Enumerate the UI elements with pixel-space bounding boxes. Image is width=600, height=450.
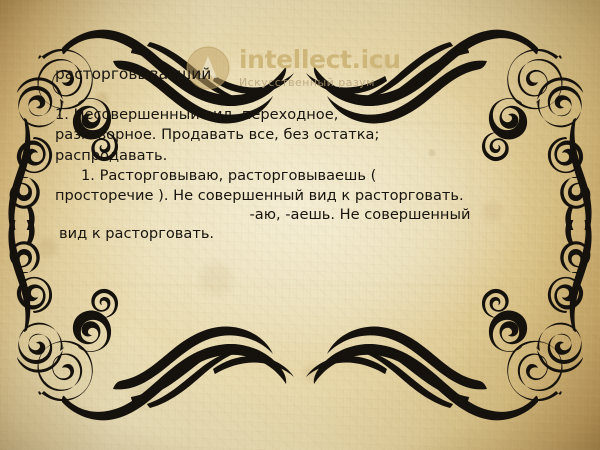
- page-title-headword: расторговывавший: [55, 64, 547, 84]
- sense-line: вид к расторговать.: [55, 224, 547, 243]
- dictionary-article: расторговывавший 1. Несовершенный вид, п…: [55, 64, 547, 244]
- conjugation-line: -аю, -аешь. Не совершенный: [55, 205, 547, 224]
- sense-line: распродавать.: [55, 146, 547, 165]
- sense-line: 1. Несовершенный вид, переходное,: [55, 105, 547, 124]
- parchment-page: intellect.icu Искусственный разум растор…: [0, 0, 600, 450]
- sense-line: разговорное. Продавать все, без остатка;: [55, 125, 547, 144]
- sense-line: 1. Расторговываю, расторговываешь (: [55, 166, 547, 185]
- sense-line: просторечие ). Не совершенный вид к раст…: [55, 186, 547, 205]
